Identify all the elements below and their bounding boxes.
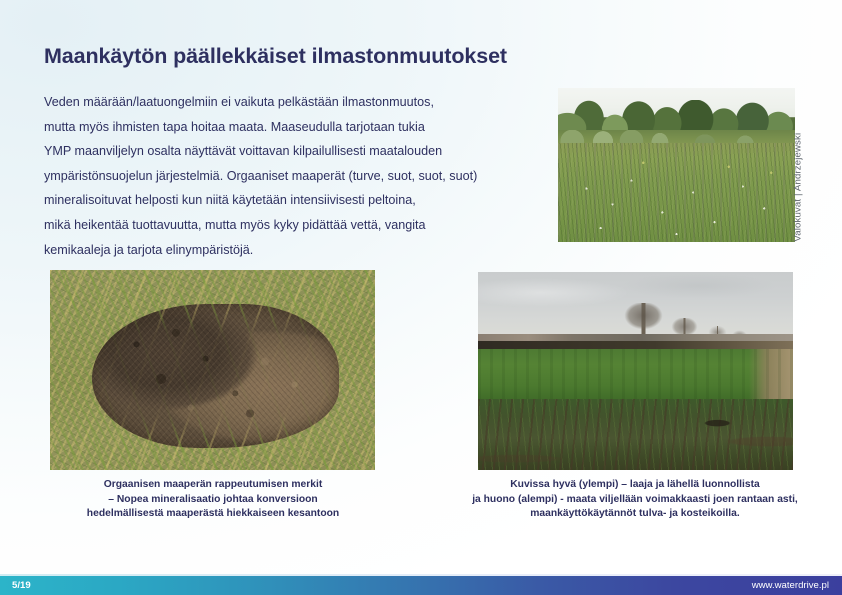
slide-canvas: Maankäytön päällekkäiset ilmastonmuutoks… — [0, 0, 842, 595]
body-paragraph: Veden määrään/laatuongelmiin ei vaikuta … — [44, 90, 544, 262]
cultivated-floodplain-field-photo — [478, 272, 793, 470]
body-line: ympäristönsuojelun järjestelmiä. Orgaani… — [44, 164, 544, 189]
caption-line: Orgaanisen maaperän rappeutumisen merkit — [42, 478, 384, 493]
footer-website-link[interactable]: www.waterdrive.pl — [752, 576, 829, 595]
soil-photo-caption: Orgaanisen maaperän rappeutumisen merkit… — [42, 478, 384, 522]
body-line: Veden määrään/laatuongelmiin ei vaikuta … — [44, 90, 544, 115]
body-line: mineralisoituvat helposti kun niitä käyt… — [44, 188, 544, 213]
body-line: mikä heikentää tuottavuutta, mutta myös … — [44, 213, 544, 238]
caption-line: – Nopea mineralisaatio johtaa konversioo… — [42, 493, 384, 508]
page-number: 5/19 — [12, 576, 31, 595]
footer-bar: 5/19 www.waterdrive.pl — [0, 576, 842, 595]
field-young-crop-rows — [478, 399, 793, 470]
body-line: mutta myös ihmisten tapa hoitaa maata. M… — [44, 115, 544, 140]
body-line: kemikaaleja ja tarjota elinympäristöjä. — [44, 238, 544, 263]
wet-meadow-summer-photo — [558, 88, 795, 242]
caption-line: hedelmällisestä maaperästä hiekkaiseen k… — [42, 507, 384, 522]
photo-credit: Valokuvat | Andrzejewski — [800, 88, 816, 242]
caption-line: ja huono (alempi) - maata viljellään voi… — [430, 493, 840, 508]
soil-photo-grass-blades-overlay — [50, 270, 375, 470]
photo-credit-label: Valokuvat | Andrzejewski — [793, 133, 803, 242]
field-photo-caption: Kuvissa hyvä (ylempi) – laaja ja lähellä… — [430, 478, 840, 522]
degraded-organic-soil-photo — [50, 270, 375, 470]
body-line: YMP maanviljelyn osalta näyttävät voitta… — [44, 139, 544, 164]
field-green-grass-band — [478, 349, 793, 400]
caption-line: Kuvissa hyvä (ylempi) – laaja ja lähellä… — [430, 478, 840, 493]
caption-line: maankäyttökäytännöt tulva- ja kosteikoil… — [430, 507, 840, 522]
page-title: Maankäytön päällekkäiset ilmastonmuutoks… — [44, 44, 644, 70]
meadow-grass-region — [558, 143, 795, 242]
